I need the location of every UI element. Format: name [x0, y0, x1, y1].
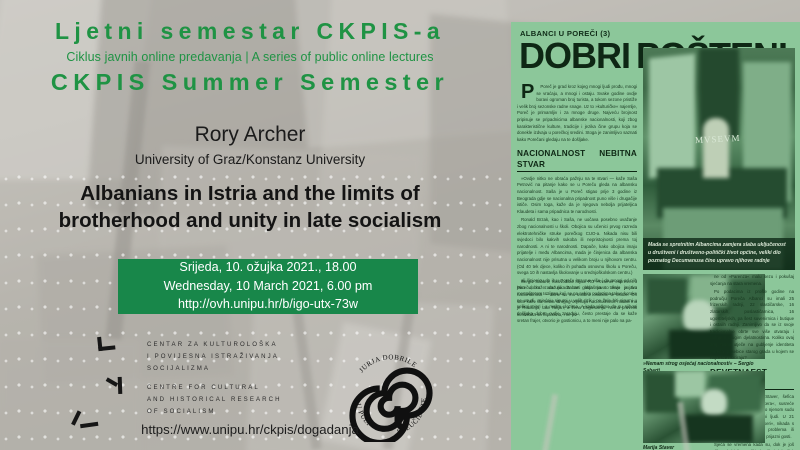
footer-website-url[interactable]: https://www.unipu.hr/ckpis/dogadanja: [0, 422, 500, 437]
ckpis-logo: [84, 332, 144, 432]
speaker-affiliation: University of Graz/Konstanz University: [0, 152, 500, 167]
clipping-body-1: PPoreč je grad kroz kojeg mnogi ljudi pr…: [517, 84, 637, 143]
clipping-body-3: Ronald Brzak, kao i Saša, ne uočava pose…: [517, 217, 637, 276]
header-title-english: CKPIS Summer Semester: [0, 69, 500, 96]
photo-watermark-text: MVSEVM: [695, 133, 741, 145]
event-date-english: Wednesday, 10 March 2021, 6.00 pm: [118, 278, 418, 296]
centre-en-line1: CENTRE FOR CULTURAL: [147, 382, 367, 394]
bracket-corner-icon: [97, 335, 121, 355]
centre-hr-line3: SOCIJALIZMA: [147, 363, 367, 375]
event-date-croatian: Srijeda, 10. ožujka 2021., 18.00: [118, 259, 418, 277]
newspaper-clipping: ALBANCI U POREČI (3) DOBRI POŠTENI MVSEV…: [511, 22, 800, 450]
poster-header: Ljetni semestar CKPIS-a Ciklus javnih on…: [0, 18, 500, 96]
centre-hr-line2: I POVIJESNA ISTRAŽIVANJA: [147, 351, 367, 363]
event-meeting-link[interactable]: http://ovh.unipu.hr/b/igo-utx-73w: [118, 296, 418, 314]
clipping-column-left-bottom: ali činjenicu da ih u Poreču ima sve viš…: [517, 278, 637, 326]
main-photo-caption: Mada se spretnitim Albancima zamjera sla…: [643, 238, 795, 270]
drop-cap: P: [517, 85, 534, 101]
headline-word-1: DOBRI: [519, 39, 630, 72]
clipping-subhead-1: NACIONALNOST NEBITNA STVAR: [517, 149, 637, 172]
lecture-title: Albanians in Istria and the limits of br…: [24, 180, 476, 235]
clipping-body-2: »Ovdje nitko ne obraća pažnju na te stva…: [517, 176, 637, 216]
lecture-title-line1: Albanians in Istria and the limits of: [24, 180, 476, 207]
centre-name-block: CENTAR ZA KULTUROLOŠKA I POVIJESNA ISTRA…: [147, 339, 367, 424]
speaker-name: Rory Archer: [0, 123, 500, 147]
clipping-main-photo: MVSEVM Mada se spretnitim Albancima zamj…: [643, 48, 795, 270]
header-subtitle: Ciklus javnih online predavanja | A seri…: [0, 50, 500, 64]
clipping-body-9: ali činjenicu da ih u Poreču ima sve viš…: [517, 278, 637, 324]
clipping-body-6: Po podacima iz prošle godine na području…: [710, 289, 794, 362]
centre-en-line2: AND HISTORICAL RESEARCH: [147, 394, 367, 406]
centre-hr-line1: CENTAR ZA KULTUROLOŠKA: [147, 339, 367, 351]
poster-canvas: Ljetni semestar CKPIS-a Ciklus javnih on…: [0, 0, 800, 450]
event-info-box: Srijeda, 10. ožujka 2021., 18.00 Wednesd…: [118, 259, 418, 314]
clipping-body-5: ne od »Parenza« malu sezu i pokušaj sjeć…: [710, 274, 794, 287]
speaker-block: Rory Archer University of Graz/Konstanz …: [0, 123, 500, 167]
clipping-photo-staver: [643, 371, 765, 443]
centre-en-line3: OF SOCIALISM: [147, 406, 367, 418]
header-title-croatian: Ljetni semestar CKPIS-a: [0, 18, 500, 45]
lecture-title-line2: brotherhood and unity in late socialism: [24, 207, 476, 234]
bracket-chevron-icon: [108, 377, 131, 396]
clipping-caption-staver: Marija Staver: [643, 445, 743, 450]
